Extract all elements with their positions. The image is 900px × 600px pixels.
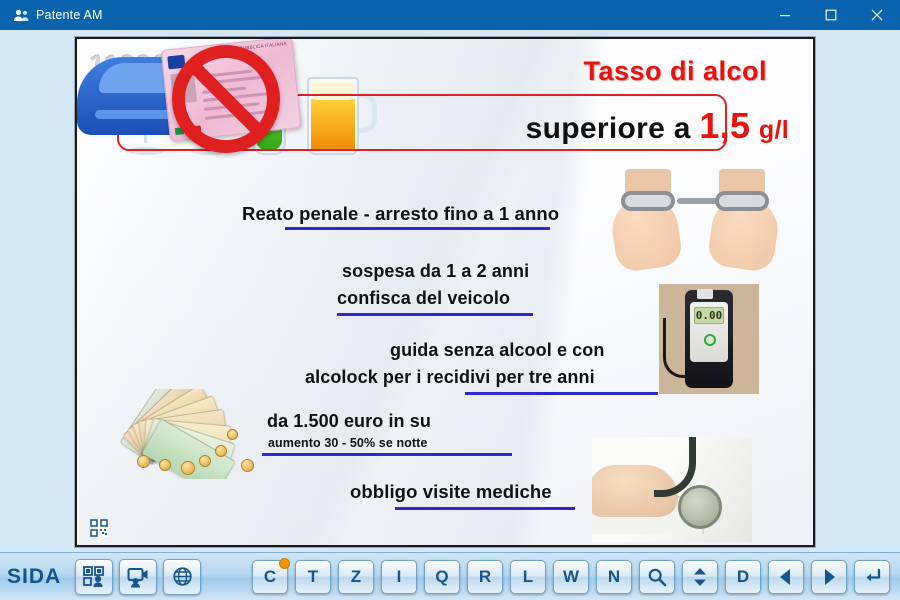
title-bar: Patente AM bbox=[0, 0, 900, 30]
key-t[interactable]: T bbox=[295, 560, 331, 594]
slide-header-title: Tasso di alcol bbox=[583, 56, 767, 87]
statement-multa-sub: aumento 30 - 50% se notte bbox=[268, 436, 428, 450]
triangle-left-icon bbox=[777, 568, 795, 586]
doctor-stethoscope-photo bbox=[592, 437, 752, 542]
prohibition-sign-icon bbox=[172, 45, 280, 153]
qr-code-icon bbox=[90, 519, 108, 537]
video-camera-icon bbox=[127, 566, 149, 588]
question-slide: 11836 Tasso di alcol bbox=[77, 39, 813, 545]
statement-sospensione-1: sospesa da 1 a 2 anni bbox=[342, 261, 529, 282]
up-down-arrows-icon bbox=[690, 566, 710, 588]
triangle-right-icon bbox=[820, 568, 838, 586]
breathalyzer-display: 0.00 bbox=[694, 307, 724, 324]
globe-icon bbox=[172, 566, 193, 587]
statement-reato: Reato penale - arresto fino a 1 anno bbox=[242, 203, 559, 225]
confirm-button[interactable] bbox=[854, 560, 890, 594]
header-statement: superiore a 1,5 g/l bbox=[526, 105, 789, 147]
underline-sospensione bbox=[337, 313, 533, 316]
video-person-button[interactable] bbox=[119, 559, 157, 595]
bottom-toolbar: SIDA bbox=[0, 552, 900, 600]
key-c-label: C bbox=[264, 567, 276, 587]
header-unit: g/l bbox=[759, 116, 789, 144]
key-l[interactable]: L bbox=[510, 560, 546, 594]
handcuffs-photo bbox=[607, 169, 782, 274]
magnifier-icon bbox=[647, 567, 667, 587]
underline-visite bbox=[395, 507, 575, 510]
key-n[interactable]: N bbox=[596, 560, 632, 594]
next-button[interactable] bbox=[811, 560, 847, 594]
key-w-label: W bbox=[563, 567, 579, 587]
key-r-label: R bbox=[479, 567, 491, 587]
key-d[interactable]: D bbox=[725, 560, 761, 594]
key-d-label: D bbox=[737, 567, 749, 587]
qr-person-button[interactable] bbox=[75, 559, 113, 595]
key-r[interactable]: R bbox=[467, 560, 503, 594]
key-i[interactable]: I bbox=[381, 560, 417, 594]
key-z[interactable]: Z bbox=[338, 560, 374, 594]
minimize-button[interactable] bbox=[762, 0, 808, 30]
toolbar-left-buttons bbox=[69, 559, 201, 595]
header-value: 1,5 bbox=[699, 105, 750, 146]
question-slide-frame: 11836 Tasso di alcol bbox=[75, 37, 815, 547]
underline-alcolock bbox=[465, 392, 658, 395]
breathalyzer-photo: 0.00 bbox=[659, 284, 759, 394]
statement-sospensione-2: confisca del veicolo bbox=[337, 288, 510, 309]
key-w[interactable]: W bbox=[553, 560, 589, 594]
previous-button[interactable] bbox=[768, 560, 804, 594]
key-q-label: Q bbox=[435, 567, 448, 587]
underline-multa bbox=[262, 453, 512, 456]
enter-arrow-icon bbox=[862, 568, 882, 586]
users-icon bbox=[8, 9, 34, 22]
key-i-label: I bbox=[397, 567, 402, 587]
brand-label: SIDA bbox=[7, 565, 61, 589]
key-n-label: N bbox=[608, 567, 620, 587]
header-prefix: superiore a bbox=[526, 112, 691, 145]
statement-visite: obbligo visite mediche bbox=[350, 481, 552, 503]
underline-reato bbox=[285, 227, 550, 230]
key-z-label: Z bbox=[351, 567, 361, 587]
window-title: Patente AM bbox=[36, 8, 103, 22]
toolbar-key-buttons: C T Z I Q R L W N D bbox=[245, 560, 890, 594]
key-l-label: L bbox=[523, 567, 533, 587]
key-c-badge bbox=[279, 558, 290, 569]
globe-button[interactable] bbox=[163, 559, 201, 595]
statement-multa: da 1.500 euro in su bbox=[267, 411, 431, 432]
application-window: Patente AM 11836 bbox=[0, 0, 900, 600]
qr-person-icon bbox=[83, 566, 105, 588]
close-button[interactable] bbox=[854, 0, 900, 30]
search-button[interactable] bbox=[639, 560, 675, 594]
key-c[interactable]: C bbox=[252, 560, 288, 594]
key-q[interactable]: Q bbox=[424, 560, 460, 594]
stepper-button[interactable] bbox=[682, 560, 718, 594]
maximize-button[interactable] bbox=[808, 0, 854, 30]
euro-money-photo bbox=[107, 389, 292, 479]
statement-alcolock-1: guida senza alcool e con bbox=[390, 340, 604, 361]
statement-alcolock-2: alcolock per i recidivi per tre anni bbox=[305, 367, 595, 388]
key-t-label: T bbox=[308, 567, 318, 587]
